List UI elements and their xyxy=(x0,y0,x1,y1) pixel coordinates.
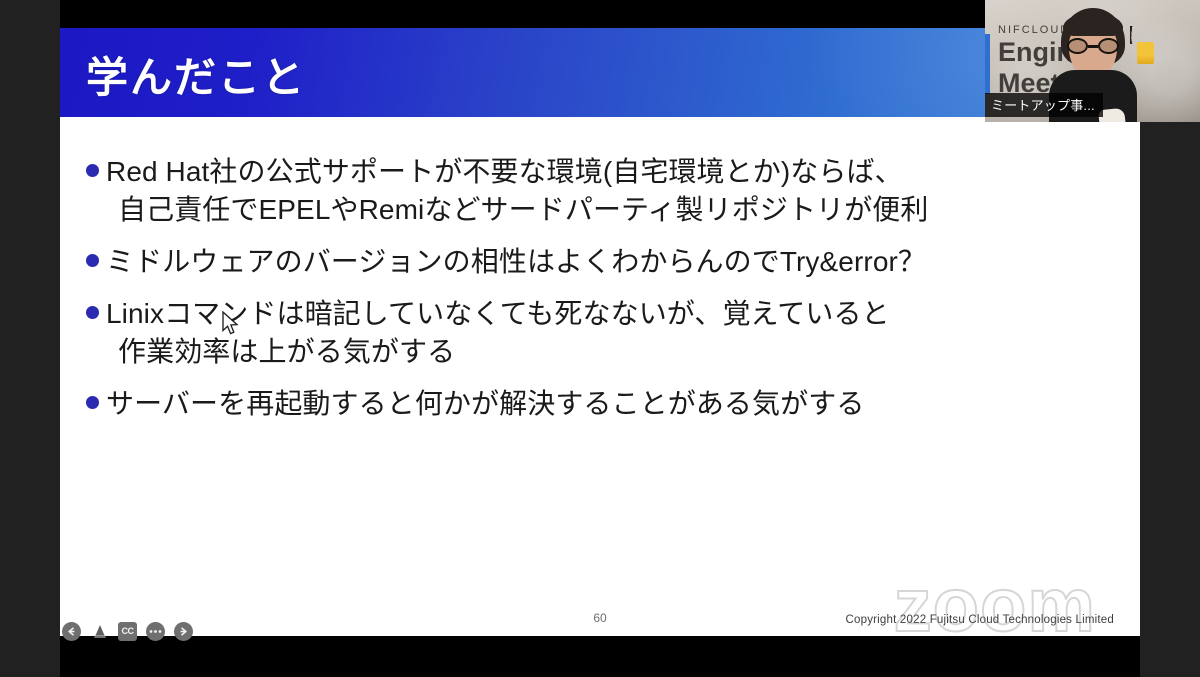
mouse-cursor xyxy=(222,311,240,342)
participant-name-label: ミートアップ事... xyxy=(985,93,1103,117)
bullet-line-2: 自己責任でEPELやRemiなどサードパーティ製リポジトリが便利 xyxy=(106,191,928,229)
copyright-notice: Copyright 2022 Fujitsu Cloud Technologie… xyxy=(846,614,1115,626)
active-speaker-indicator xyxy=(985,34,990,94)
bangs-shape xyxy=(1063,14,1123,36)
slide-body: Red Hat社の公式サポートが不要な環境(自宅環境とか)ならば、 自己責任でE… xyxy=(60,125,1140,595)
more-options-button[interactable] xyxy=(146,622,165,641)
slide-footer: 60 Copyright 2022 Fujitsu Cloud Technolo… xyxy=(60,594,1140,636)
list-item: Linixコマンドは暗記していなくても死なないが、覚えていると 作業効率は上がる… xyxy=(86,295,1114,371)
bullet-line-1: ミドルウェアのバージョンの相性はよくわからんのでTry&error？ xyxy=(106,246,926,277)
list-item: サーバーを再起動すると何かが解決することがある気がする xyxy=(86,385,1114,423)
presentation-toolbar: CC xyxy=(62,622,193,641)
bullet-text: ミドルウェアのバージョンの相性はよくわからんのでTry&error？ xyxy=(106,243,926,281)
previous-slide-button[interactable] xyxy=(62,622,81,641)
arrow-right-icon xyxy=(178,626,189,637)
next-slide-button[interactable] xyxy=(174,622,193,641)
bullet-dot-icon xyxy=(86,306,99,319)
bullet-text: Red Hat社の公式サポートが不要な環境(自宅環境とか)ならば、 自己責任でE… xyxy=(106,153,928,229)
bullet-dot-icon xyxy=(86,396,99,409)
list-item: ミドルウェアのバージョンの相性はよくわからんのでTry&error？ xyxy=(86,243,1114,281)
bullet-dot-icon xyxy=(86,164,99,177)
arrow-left-icon xyxy=(66,626,77,637)
closed-captions-button[interactable]: CC xyxy=(118,622,137,641)
slide-title: 学んだこと xyxy=(86,44,306,105)
bullet-dot-icon xyxy=(86,254,99,267)
list-item: Red Hat社の公式サポートが不要な環境(自宅環境とか)ならば、 自己責任でE… xyxy=(86,153,1114,229)
ellipsis-icon xyxy=(149,629,162,634)
participant-video-tile[interactable]: NIFCLOUD Engineer Meetup ミートアップ事... xyxy=(985,0,1200,122)
bullet-line-1: Red Hat社の公式サポートが不要な環境(自宅環境とか)ならば、 xyxy=(106,156,903,187)
meeting-stage: 学んだこと Red Hat社の公式サポートが不要な環境(自宅環境とか)ならば、 … xyxy=(0,0,1200,677)
slide-title-banner: 学んだこと xyxy=(60,28,1140,117)
annotate-button[interactable] xyxy=(90,622,109,641)
bullet-line-1: サーバーを再起動すると何かが解決することがある気がする xyxy=(106,388,864,419)
glasses-icon xyxy=(1067,38,1119,54)
bullet-text: サーバーを再起動すると何かが解決することがある気がする xyxy=(106,385,864,423)
pen-icon xyxy=(91,623,109,641)
